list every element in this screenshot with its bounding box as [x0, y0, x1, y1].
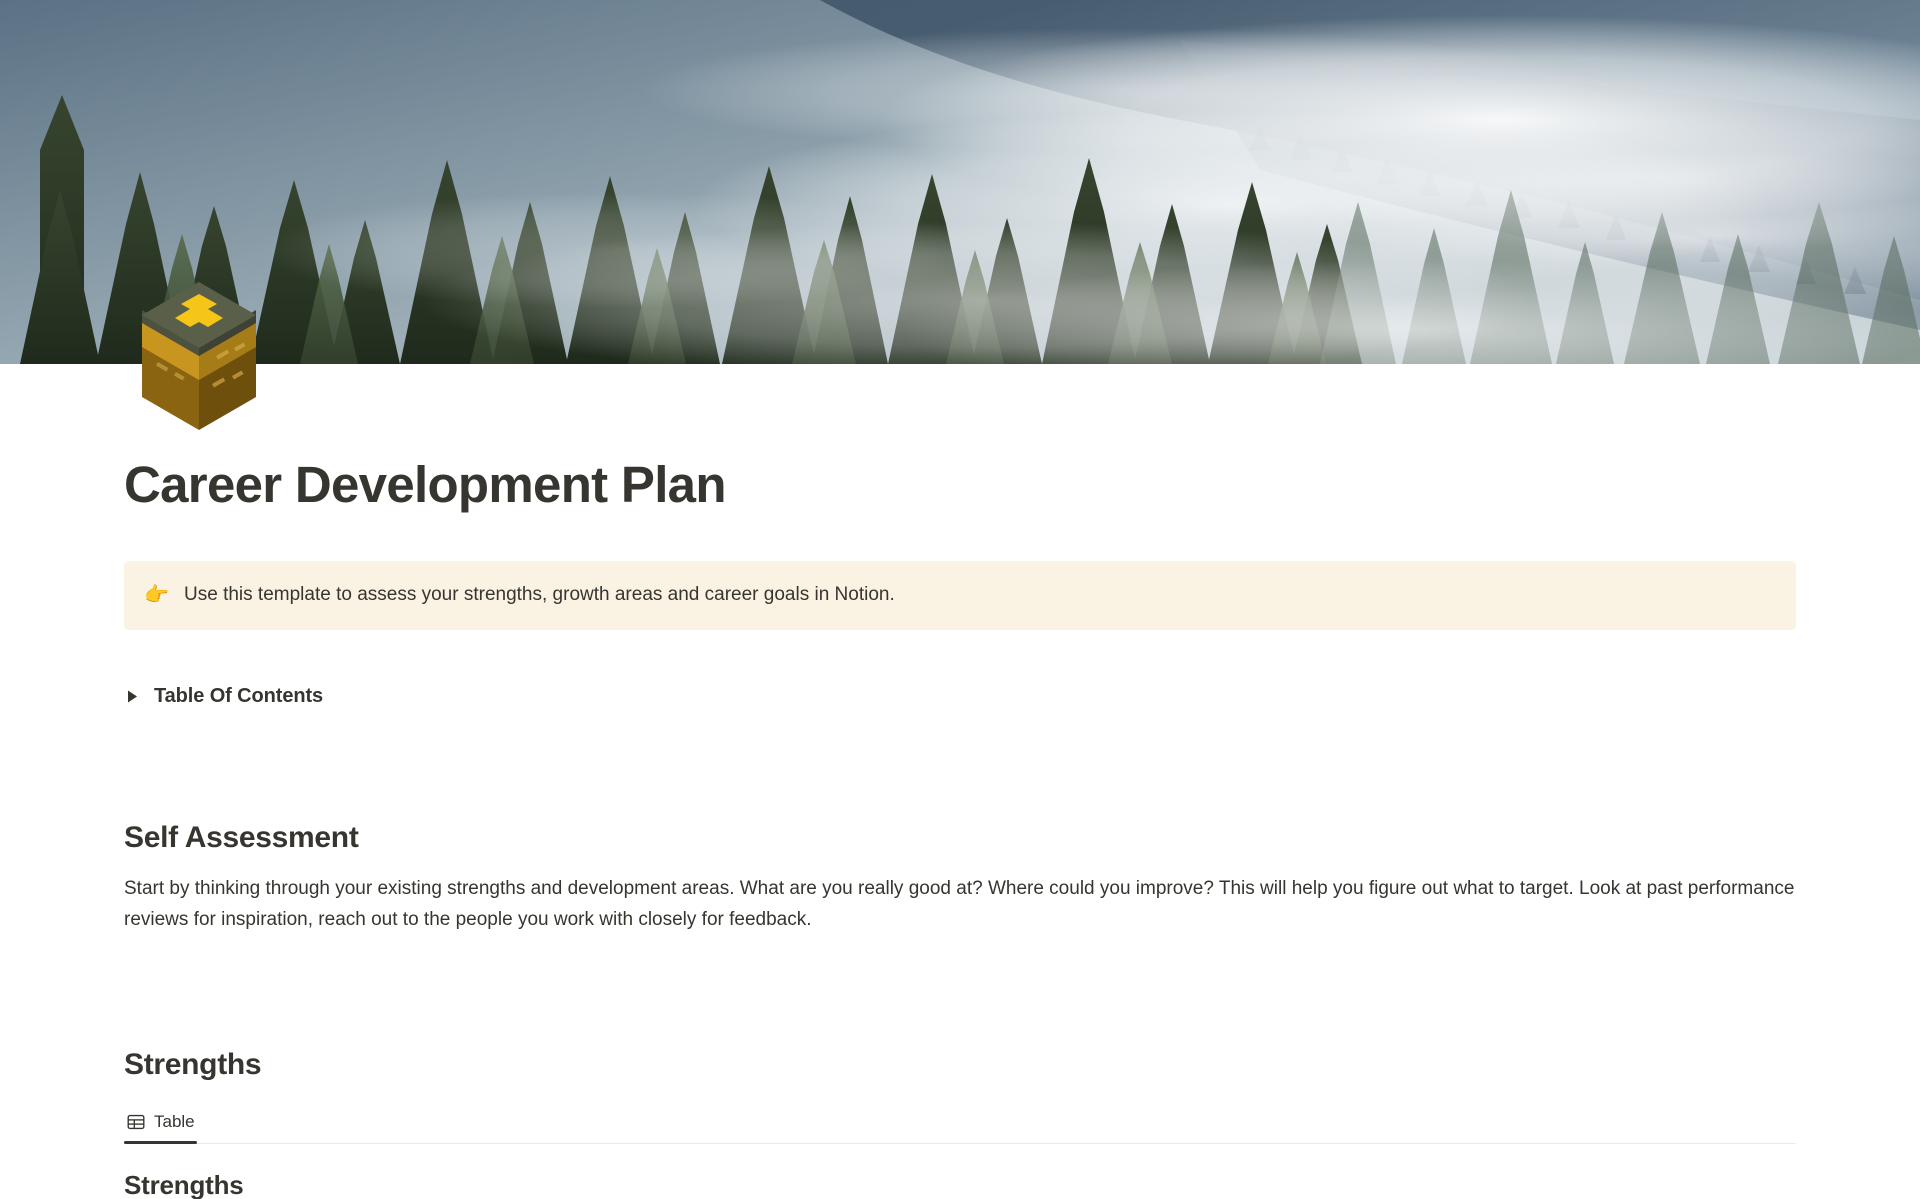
tab-table-label: Table: [154, 1112, 195, 1132]
table-of-contents-toggle[interactable]: Table Of Contents: [124, 680, 1796, 714]
page-content: Career Development Plan 👉 Use this templ…: [0, 364, 1920, 1199]
page-title[interactable]: Career Development Plan: [124, 364, 1796, 515]
page-icon[interactable]: [124, 280, 274, 430]
callout-text: Use this template to assess your strengt…: [184, 582, 895, 608]
database-title[interactable]: Strengths: [124, 1170, 1796, 1199]
isometric-cube-icon: [124, 280, 274, 430]
heading-strengths[interactable]: Strengths: [124, 1045, 1796, 1084]
strengths-database-block: Table Strengths: [124, 1102, 1796, 1199]
page-body: Career Development Plan 👉 Use this templ…: [0, 364, 1920, 1199]
table-grid-icon: [126, 1112, 146, 1132]
page-cover-image[interactable]: [0, 0, 1920, 364]
heading-self-assessment[interactable]: Self Assessment: [124, 818, 1796, 857]
pointing-right-hand-emoji: 👉: [144, 582, 168, 608]
self-assessment-paragraph[interactable]: Start by thinking through your existing …: [124, 873, 1796, 935]
table-of-contents-label: Table Of Contents: [154, 685, 323, 708]
cover-illustration: [0, 0, 1920, 364]
callout-block[interactable]: 👉 Use this template to assess your stren…: [124, 561, 1796, 630]
triangle-right-icon[interactable]: [124, 689, 140, 705]
database-view-tabbar: Table: [124, 1102, 1796, 1144]
tab-table-view[interactable]: Table: [124, 1102, 205, 1143]
